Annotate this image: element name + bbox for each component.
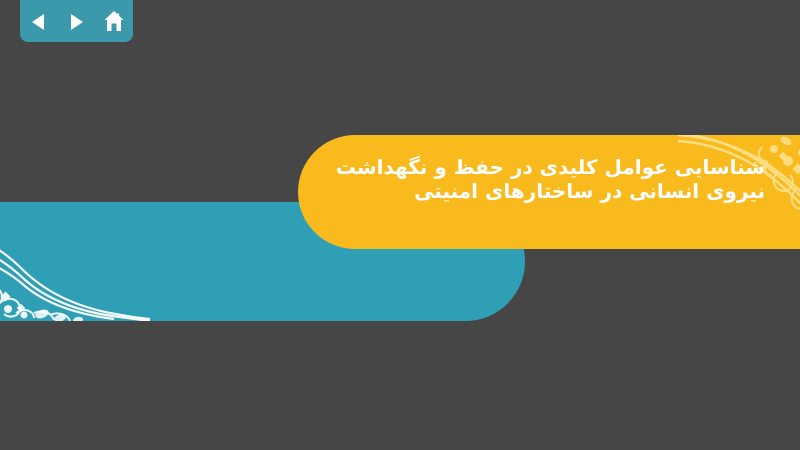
- home-icon: [102, 10, 126, 34]
- presentation-slide: شناسایی عوامل کلیدی در حفظ و نگهداشت نیر…: [0, 0, 800, 450]
- arabesque-ornament-teal: [0, 221, 150, 321]
- slide-title: شناسایی عوامل کلیدی در حفظ و نگهداشت نیر…: [325, 155, 765, 204]
- triangle-right-icon: [65, 11, 87, 33]
- triangle-left-icon: [28, 11, 50, 33]
- home-button[interactable]: [101, 9, 127, 35]
- slide-navigation-bar[interactable]: [20, 0, 133, 42]
- next-slide-button[interactable]: [63, 9, 89, 35]
- slide-title-line-1: شناسایی عوامل کلیدی در حفظ و نگهداشت: [325, 155, 765, 179]
- slide-title-line-2: نیروی انسانی در ساختارهای امنیتی: [325, 179, 765, 203]
- previous-slide-button[interactable]: [26, 9, 52, 35]
